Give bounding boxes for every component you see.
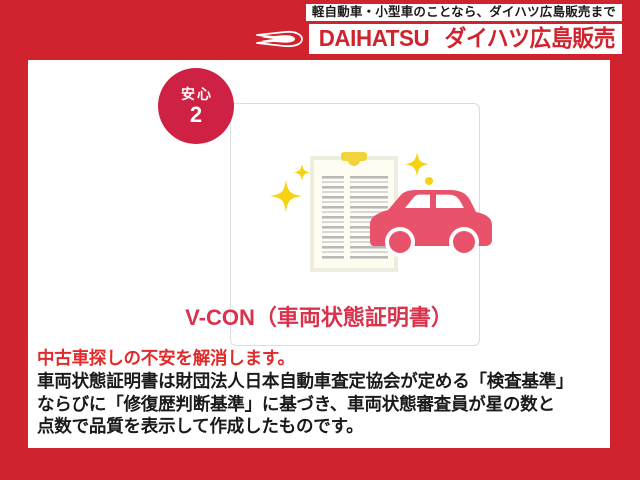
anshin-badge-label: 安心 xyxy=(179,87,213,101)
description-headline: 中古車探しの不安を解消します。 xyxy=(37,347,607,370)
brand-japanese-text: ダイハツ広島販売 xyxy=(445,27,616,50)
vcon-title: V-CON（車両状態証明書） xyxy=(28,300,610,332)
header-brand-block: 軽自動車・小型車のことなら、ダイハツ広島販売まで DAIHATSU ダイハツ広島… xyxy=(251,4,622,54)
description-line: 車両状態証明書は財団法人日本自動車査定協会が定める「検査基準」 xyxy=(37,370,607,393)
illustration-group xyxy=(198,128,498,278)
description-line: ならびに「修復歴判断基準」に基づき、車両状態審査員が星の数と xyxy=(37,393,607,416)
sparkle-icon xyxy=(270,164,310,212)
content-card: 安心 2 xyxy=(28,60,610,448)
header-tagline-box: 軽自動車・小型車のことなら、ダイハツ広島販売まで xyxy=(306,4,622,21)
description-block: 中古車探しの不安を解消します。 車両状態証明書は財団法人日本自動車査定協会が定め… xyxy=(37,347,607,438)
anshin-badge-number: 2 xyxy=(190,104,202,126)
page-root: 軽自動車・小型車のことなら、ダイハツ広島販売まで DAIHATSU ダイハツ広島… xyxy=(0,0,640,480)
brand-wordmarks: DAIHATSU ダイハツ広島販売 xyxy=(309,24,622,54)
brand-latin-text: DAIHATSU xyxy=(318,27,429,50)
anshin-badge: 安心 2 xyxy=(158,68,234,144)
sparkle-icon xyxy=(405,152,433,185)
brand-logo-row[interactable]: DAIHATSU ダイハツ広島販売 xyxy=(251,24,622,54)
description-line: 点数で品質を表示して作成したものです。 xyxy=(37,415,607,438)
daihatsu-d-mark-icon xyxy=(251,24,309,54)
header-tagline: 軽自動車・小型車のことなら、ダイハツ広島販売まで xyxy=(312,6,616,19)
site-header: 軽自動車・小型車のことなら、ダイハツ広島販売まで DAIHATSU ダイハツ広島… xyxy=(0,0,640,60)
